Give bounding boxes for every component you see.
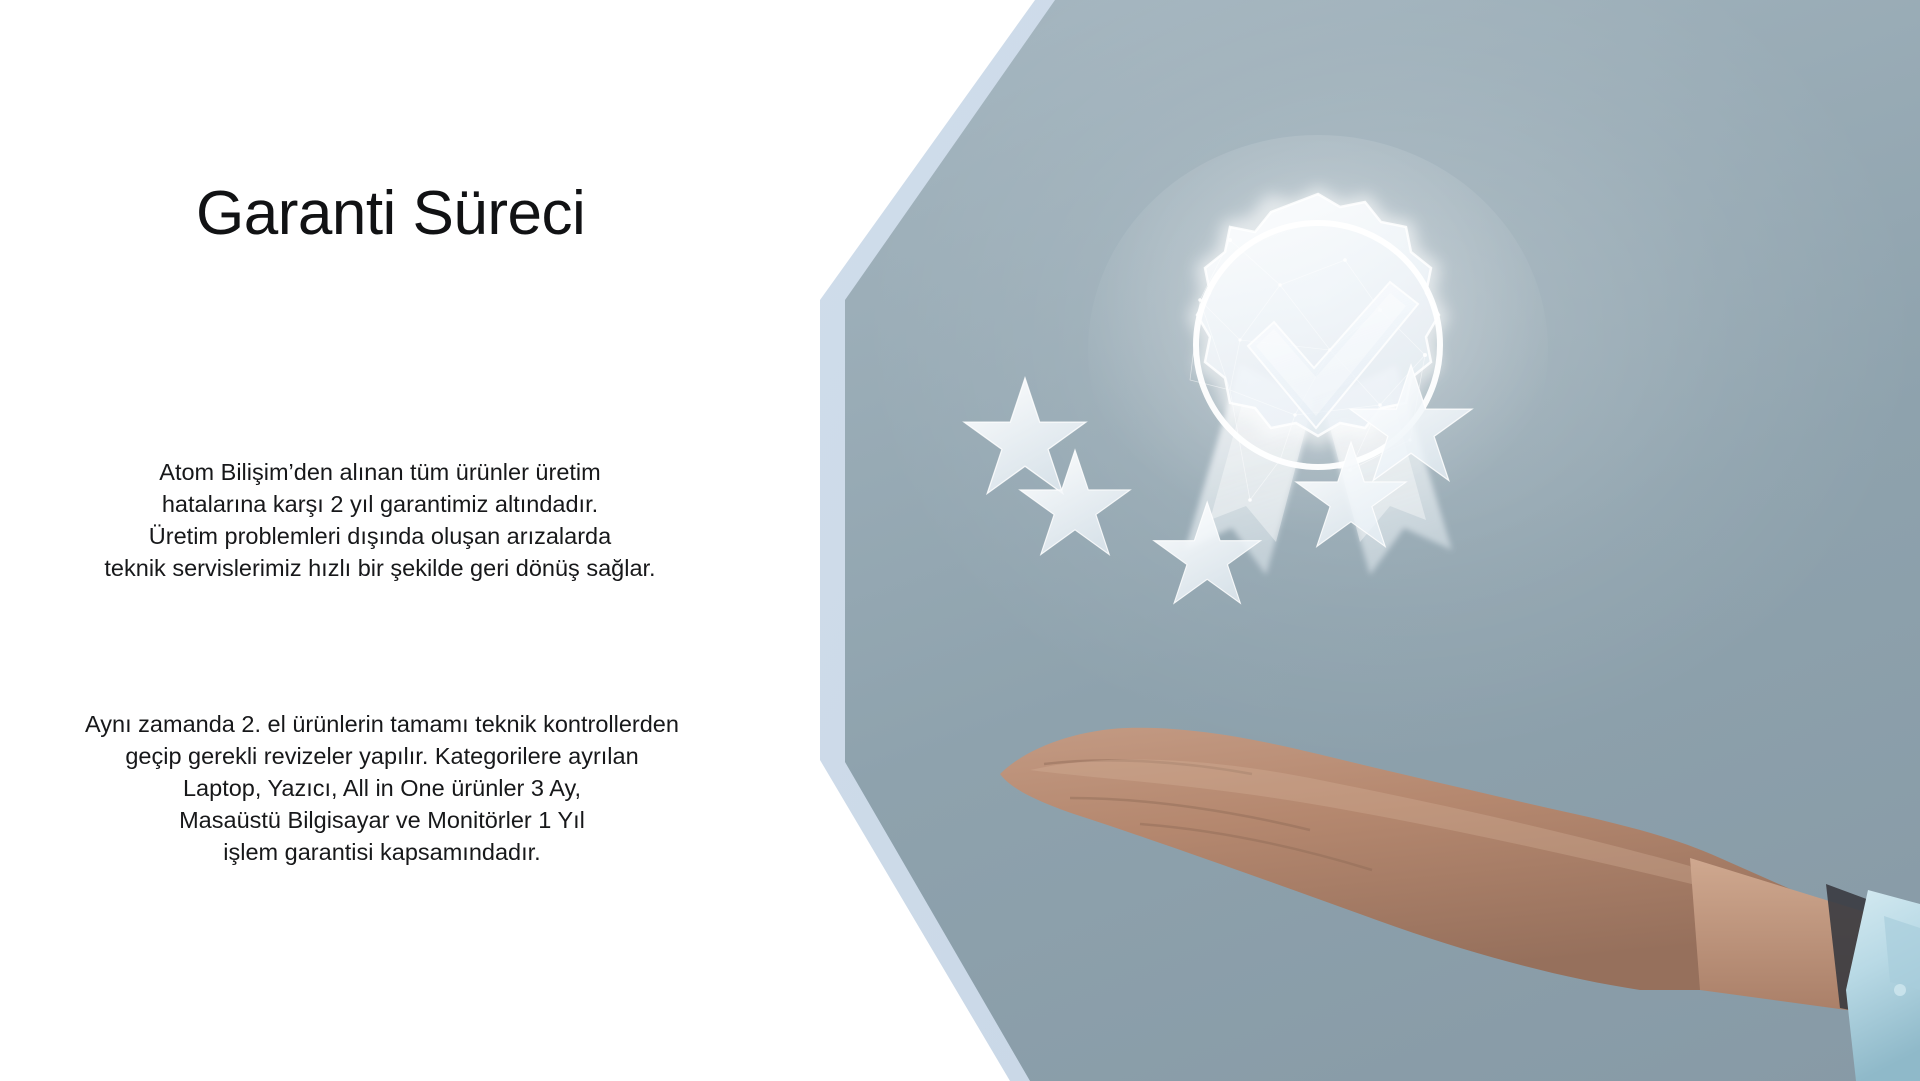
paragraph-line: Laptop, Yazıcı, All in One ürünler 3 Ay, xyxy=(12,772,752,804)
warranty-paragraph-1: Atom Bilişim’den alınan tüm ürünler üret… xyxy=(50,456,710,584)
paragraph-line: Masaüstü Bilgisayar ve Monitörler 1 Yıl xyxy=(12,804,752,836)
paragraph-line: geçip gerekli revizeler yapılır. Kategor… xyxy=(12,740,752,772)
sleeve-button xyxy=(1894,984,1906,996)
warranty-paragraph-2: Aynı zamanda 2. el ürünlerin tamamı tekn… xyxy=(12,708,752,868)
paragraph-line: Üretim problemleri dışında oluşan arızal… xyxy=(50,520,710,552)
paragraph-line: Atom Bilişim’den alınan tüm ürünler üret… xyxy=(50,456,710,488)
slide-canvas: Garanti Süreci Atom Bilişim’den alınan t… xyxy=(0,0,1920,1081)
open-hand xyxy=(1000,690,1920,1081)
paragraph-line: teknik servislerimiz hızlı bir şekilde g… xyxy=(50,552,710,584)
paragraph-line: işlem garantisi kapsamındadır. xyxy=(12,836,752,868)
quality-badge xyxy=(1080,150,1560,620)
paragraph-line: Aynı zamanda 2. el ürünlerin tamamı tekn… xyxy=(12,708,752,740)
paragraph-line: hatalarına karşı 2 yıl garantimiz altınd… xyxy=(50,488,710,520)
page-title: Garanti Süreci xyxy=(196,178,585,249)
